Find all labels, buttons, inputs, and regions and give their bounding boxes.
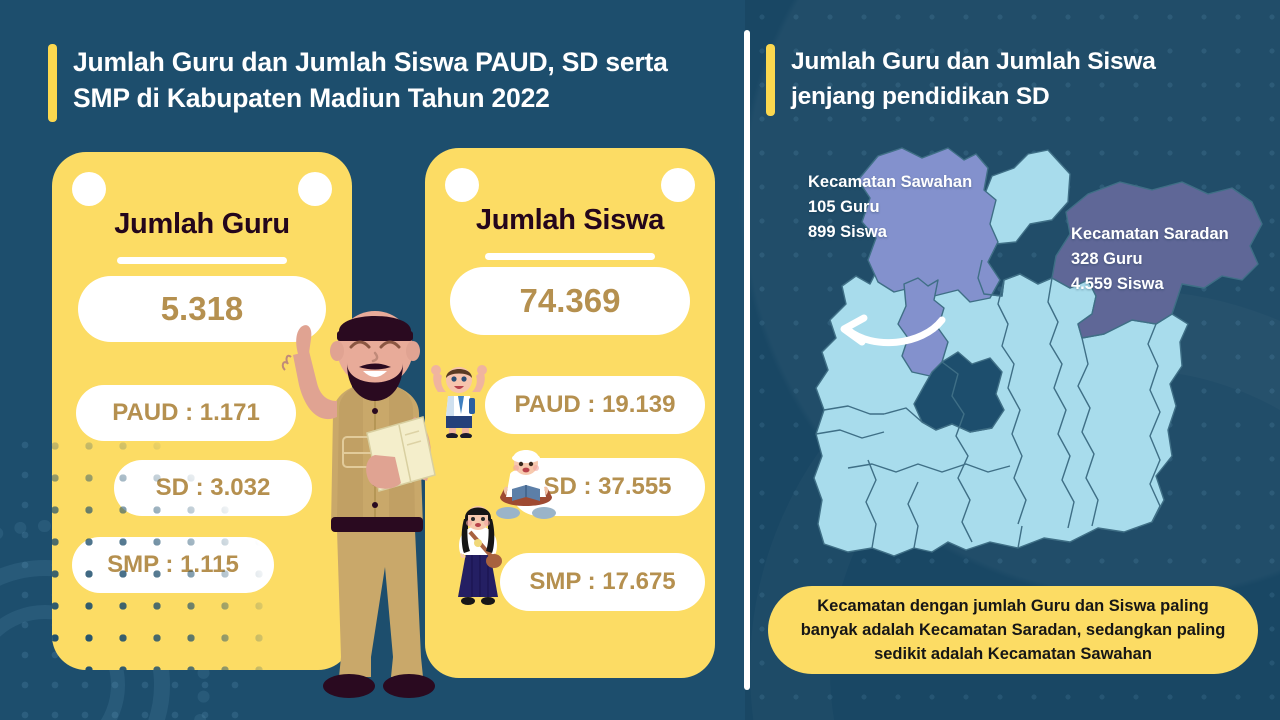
map-label-sawahan: Kecamatan Sawahan 105 Guru 899 Siswa xyxy=(808,170,972,245)
right-heading: Jumlah Guru dan Jumlah Siswa jenjang pen… xyxy=(766,44,1246,116)
left-heading-text: Jumlah Guru dan Jumlah Siswa PAUD, SD se… xyxy=(73,44,728,116)
student-girl-illustration xyxy=(448,505,508,610)
map-label-sawahan-teachers: 105 Guru xyxy=(808,195,972,220)
right-heading-text: Jumlah Guru dan Jumlah Siswa jenjang pen… xyxy=(791,44,1246,114)
title-underline xyxy=(485,253,655,260)
map-label-sawahan-name: Kecamatan Sawahan xyxy=(808,170,972,195)
punch-hole-icon xyxy=(661,168,695,202)
map-label-saradan-teachers: 328 Guru xyxy=(1071,247,1229,272)
card-title: Jumlah Siswa xyxy=(425,204,715,237)
left-heading: Jumlah Guru dan Jumlah Siswa PAUD, SD se… xyxy=(48,44,728,122)
title-underline xyxy=(117,257,287,264)
breakdown-pill-smp: SMP : 1.115 xyxy=(72,537,274,593)
summary-callout: Kecamatan dengan jumlah Guru dan Siswa p… xyxy=(768,586,1258,674)
infographic-canvas: Jumlah Guru dan Jumlah Siswa PAUD, SD se… xyxy=(0,0,1280,720)
map-label-sawahan-students: 899 Siswa xyxy=(808,220,972,245)
punch-hole-icon xyxy=(298,172,332,206)
map-label-saradan: Kecamatan Saradan 328 Guru 4.559 Siswa xyxy=(1071,222,1229,297)
student-boy-illustration xyxy=(428,358,490,438)
breakdown-pill-smp: SMP : 17.675 xyxy=(500,553,705,611)
breakdown-pill-paud: PAUD : 19.139 xyxy=(485,376,705,434)
vertical-divider xyxy=(744,30,750,690)
punch-hole-icon xyxy=(72,172,106,206)
heading-accent-bar xyxy=(48,44,57,122)
punch-hole-icon xyxy=(445,168,479,202)
map-label-saradan-students: 4.559 Siswa xyxy=(1071,272,1229,297)
breakdown-pill-paud: PAUD : 1.171 xyxy=(76,385,296,441)
total-value-pill: 74.369 xyxy=(450,267,690,335)
map-label-saradan-name: Kecamatan Saradan xyxy=(1071,222,1229,247)
heading-accent-bar xyxy=(766,44,775,116)
card-title: Jumlah Guru xyxy=(52,208,352,241)
summary-callout-text: Kecamatan dengan jumlah Guru dan Siswa p… xyxy=(790,594,1236,666)
